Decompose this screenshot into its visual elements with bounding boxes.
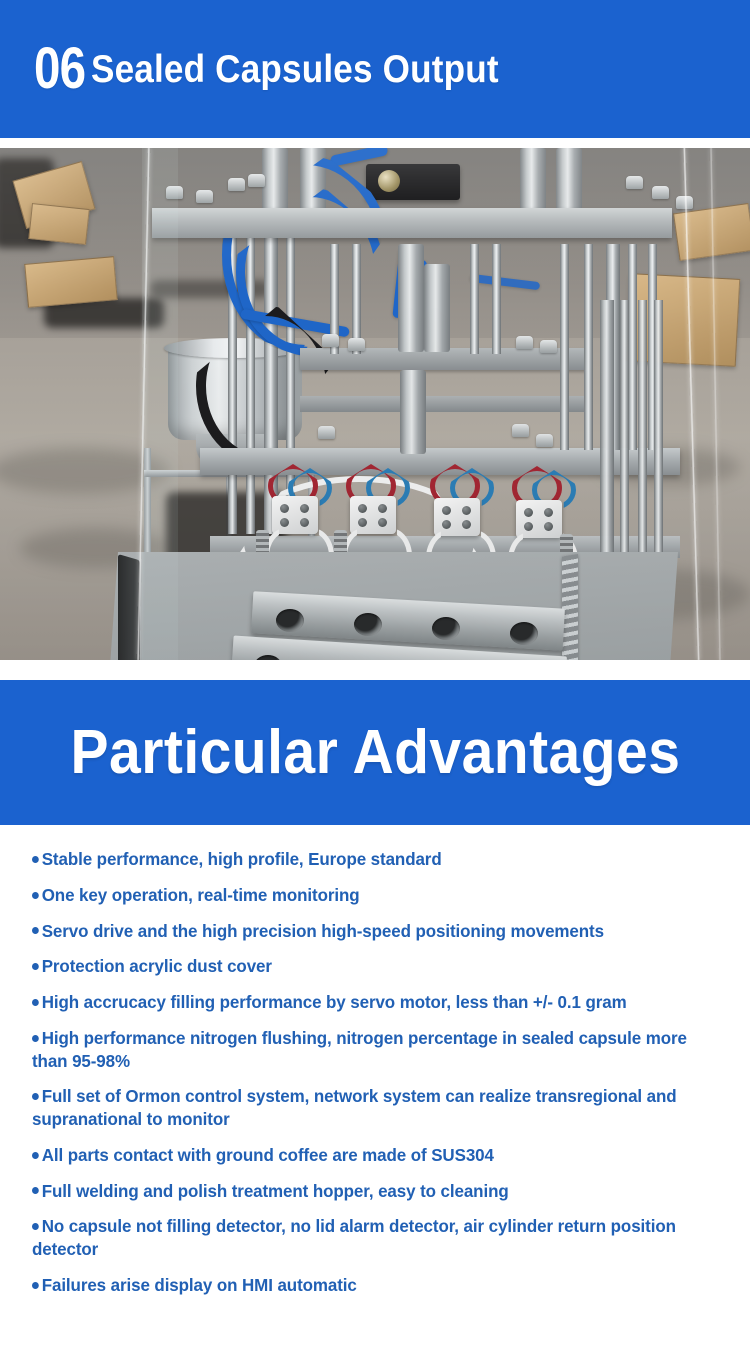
bullet-dot-icon bbox=[32, 1093, 39, 1100]
capsule-hole bbox=[432, 617, 460, 640]
list-item: Stable performance, high profile, Europe… bbox=[32, 848, 699, 871]
machine-cross-beam bbox=[300, 396, 590, 412]
center-cylinder bbox=[424, 264, 450, 352]
acrylic-pane-reflection bbox=[142, 148, 178, 660]
guide-rod bbox=[654, 300, 663, 580]
advantages-heading: Particular Advantages bbox=[70, 722, 680, 784]
cap-nut bbox=[322, 334, 339, 347]
cap-nut bbox=[626, 176, 643, 189]
wooden-crate bbox=[28, 203, 89, 245]
pneumatic-cylinder bbox=[556, 148, 582, 210]
bullet-dot-icon bbox=[32, 892, 39, 899]
center-cylinder bbox=[398, 244, 424, 352]
machine-top-plate bbox=[152, 208, 672, 238]
bullet-dot-icon bbox=[32, 856, 39, 863]
section-title: Sealed Capsules Output bbox=[91, 50, 499, 89]
cap-nut bbox=[348, 338, 365, 351]
machine-photo-scene bbox=[0, 148, 750, 660]
product-detail-page: 06 Sealed Capsules Output bbox=[0, 0, 750, 1350]
bullet-dot-icon bbox=[32, 999, 39, 1006]
guide-rod bbox=[492, 244, 501, 354]
advantages-banner: Particular Advantages bbox=[0, 680, 750, 825]
cap-nut bbox=[196, 190, 213, 203]
drive-chain bbox=[562, 554, 578, 660]
list-item: Failures arise display on HMI automatic bbox=[32, 1274, 699, 1297]
list-item: Servo drive and the high precision high-… bbox=[32, 920, 699, 943]
cap-nut bbox=[228, 178, 245, 191]
bullet-dot-icon bbox=[32, 1152, 39, 1159]
guide-rod bbox=[638, 300, 647, 590]
list-item: High accrucacy filling performance by se… bbox=[32, 991, 699, 1014]
advantages-list: Stable performance, high profile, Europe… bbox=[0, 848, 750, 1310]
guide-rod bbox=[584, 244, 593, 450]
machine-photo bbox=[0, 148, 750, 660]
bullet-dot-icon bbox=[32, 1223, 39, 1230]
bullet-dot-icon bbox=[32, 1282, 39, 1289]
wooden-crate bbox=[24, 256, 117, 308]
bullet-dot-icon bbox=[32, 1035, 39, 1042]
cap-nut bbox=[512, 424, 529, 437]
list-item: Full welding and polish treatment hopper… bbox=[32, 1180, 699, 1203]
capsule-hole bbox=[276, 609, 304, 632]
list-item: No capsule not filling detector, no lid … bbox=[32, 1215, 699, 1261]
guide-rod bbox=[470, 244, 479, 354]
list-item: Full set of Ormon control system, networ… bbox=[32, 1085, 699, 1131]
bullet-dot-icon bbox=[32, 1187, 39, 1194]
list-item: High performance nitrogen flushing, nitr… bbox=[32, 1027, 699, 1073]
section-header-banner: 06 Sealed Capsules Output bbox=[0, 0, 750, 138]
cap-nut bbox=[516, 336, 533, 349]
center-cylinder bbox=[400, 370, 426, 454]
list-item: All parts contact with ground coffee are… bbox=[32, 1144, 699, 1167]
cap-nut bbox=[536, 434, 553, 447]
section-number: 06 bbox=[34, 40, 85, 98]
cap-nut bbox=[540, 340, 557, 353]
capsule-hole bbox=[510, 622, 538, 645]
guide-rod bbox=[628, 244, 637, 450]
list-item: Protection acrylic dust cover bbox=[32, 955, 699, 978]
guide-rod bbox=[560, 244, 569, 450]
list-item: One key operation, real-time monitoring bbox=[32, 884, 699, 907]
cap-nut bbox=[318, 426, 335, 439]
capsule-hole bbox=[354, 613, 382, 636]
pneumatic-cylinder bbox=[520, 148, 546, 210]
bullet-dot-icon bbox=[32, 927, 39, 934]
bullet-dot-icon bbox=[32, 963, 39, 970]
control-knob[interactable] bbox=[378, 170, 400, 192]
cap-nut bbox=[248, 174, 265, 187]
cap-nut bbox=[652, 186, 669, 199]
